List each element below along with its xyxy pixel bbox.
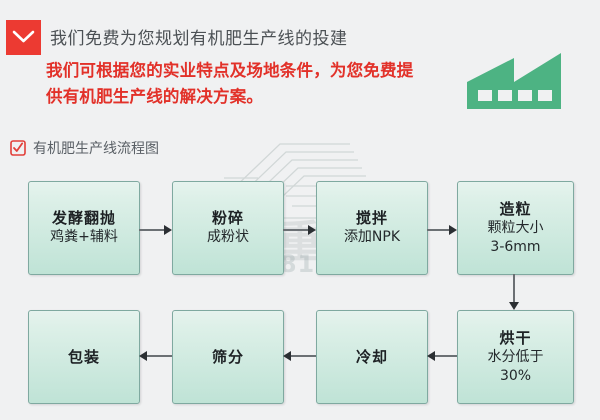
arrow-granulation-to-drying [509,274,519,310]
node-label-primary: 发酵翻抛 [52,209,116,228]
node-label-secondary: 成粉状 [207,228,249,247]
node-label-secondary: 鸡粪+辅料 [50,228,118,247]
node-label-primary: 筛分 [212,348,244,367]
node-label-primary: 粉碎 [212,209,244,228]
page-root: 我们免费为您规划有机肥生产线的投建 我们可根据您的实业特点及场地条件，为您免费提… [0,0,600,420]
node-label-secondary: 添加NPK [344,228,400,247]
flow-node-crushing[interactable]: 粉碎 成粉状 [172,181,284,275]
node-label-secondary: 水分低于 [488,348,544,367]
node-label-primary: 搅拌 [356,209,388,228]
arrow-crushing-to-mixing [283,225,316,235]
arrow-cooling-to-screening [283,351,316,361]
node-label-tertiary: 3-6mm [490,238,540,257]
flow-node-screening[interactable]: 筛分 [172,310,284,404]
flow-node-cooling[interactable]: 冷却 [316,310,428,404]
flow-node-packaging[interactable]: 包装 [28,310,140,404]
flow-node-mixing[interactable]: 搅拌 添加NPK [316,181,428,275]
node-label-primary: 冷却 [356,348,388,367]
node-label-primary: 烘干 [499,329,531,348]
flow-node-granulation[interactable]: 造粒 颗粒大小 3-6mm [457,181,574,275]
node-label-secondary: 颗粒大小 [488,219,544,238]
flow-node-fermentation[interactable]: 发酵翻抛 鸡粪+辅料 [28,181,140,275]
arrow-fermentation-to-crushing [139,225,172,235]
node-label-primary: 造粒 [499,200,531,219]
arrow-screening-to-packaging [139,351,172,361]
node-label-tertiary: 30% [500,367,531,386]
flow-node-drying[interactable]: 烘干 水分低于 30% [457,310,574,404]
node-label-primary: 包装 [68,348,100,367]
flowchart: 发酵翻抛 鸡粪+辅料 粉碎 成粉状 搅拌 添加NPK 造粒 颗粒大小 3-6mm… [0,0,600,420]
arrow-mixing-to-granulation [427,225,457,235]
arrow-drying-to-cooling [427,351,457,361]
